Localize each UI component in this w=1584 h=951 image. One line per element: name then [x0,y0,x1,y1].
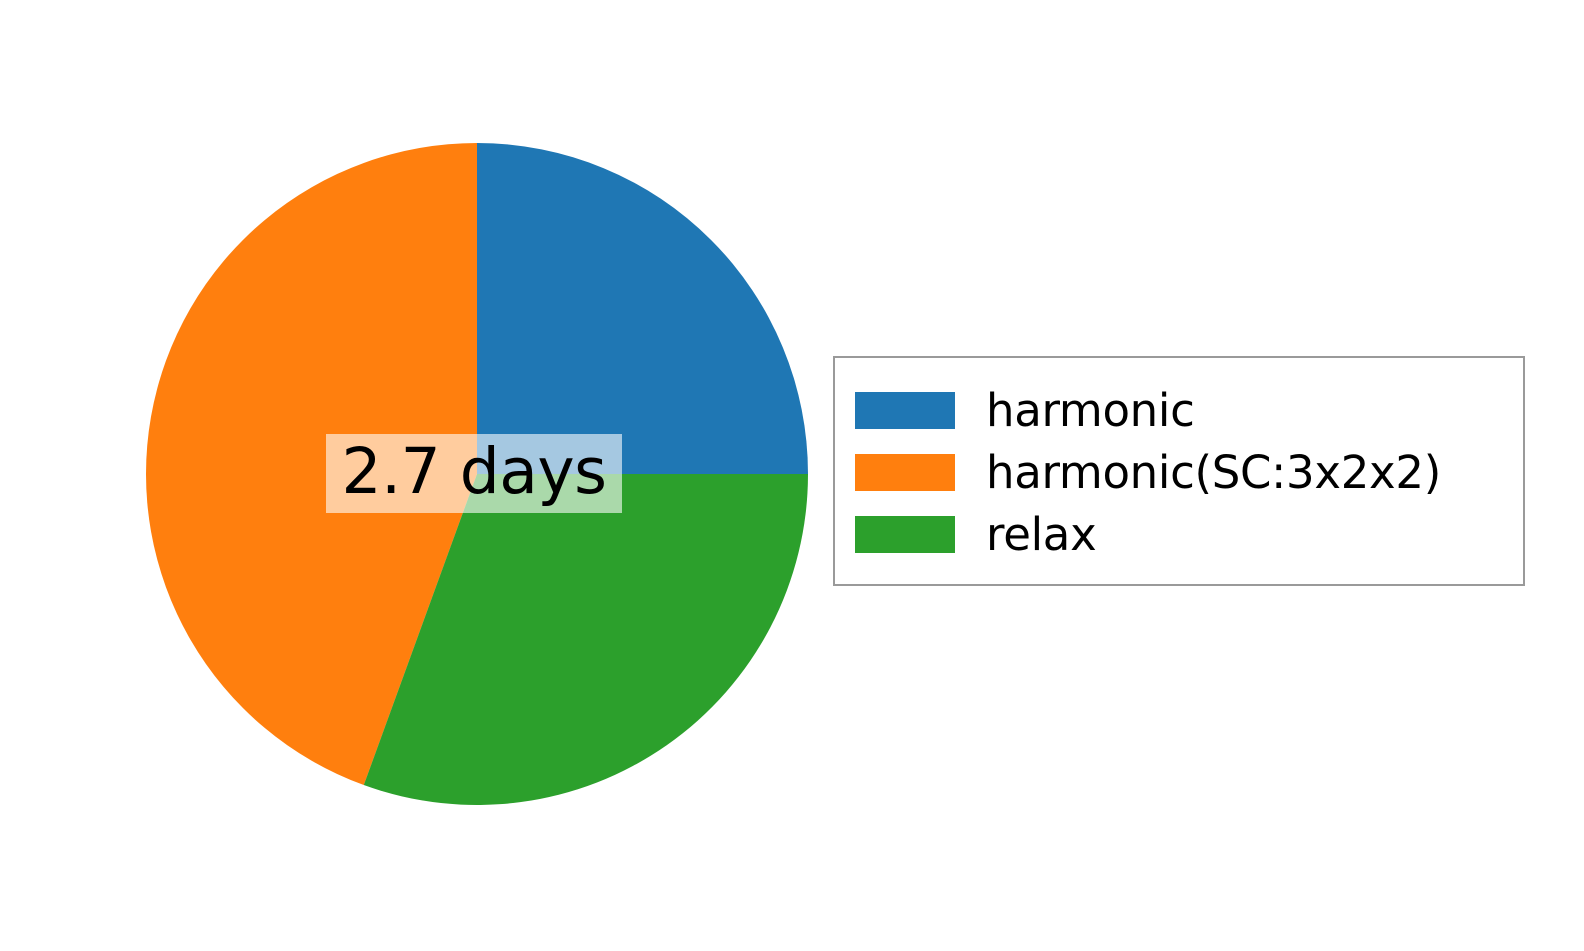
legend-label-relax: relax [986,512,1096,557]
legend-item-harmonic-sc[interactable]: harmonic(SC:3x2x2) [835,441,1523,503]
legend-label-harmonic: harmonic [986,388,1195,433]
pie-slices-group [146,143,808,805]
pie-chart-area [146,143,808,805]
legend-swatch-icon-harmonic [855,392,955,429]
legend-swatch-icon-relax [855,516,955,553]
legend-item-harmonic[interactable]: harmonic [835,379,1523,441]
pie-slice-harmonic[interactable] [477,143,808,474]
legend-swatch-icon-harmonic-sc [855,454,955,491]
pie-chart-figure: 2.7 days harmonic harmonic(SC:3x2x2) rel… [0,0,1584,951]
chart-legend: harmonic harmonic(SC:3x2x2) relax [833,356,1525,586]
legend-item-relax[interactable]: relax [835,503,1523,565]
legend-label-harmonic-sc: harmonic(SC:3x2x2) [986,450,1441,495]
pie-svg [146,143,808,805]
